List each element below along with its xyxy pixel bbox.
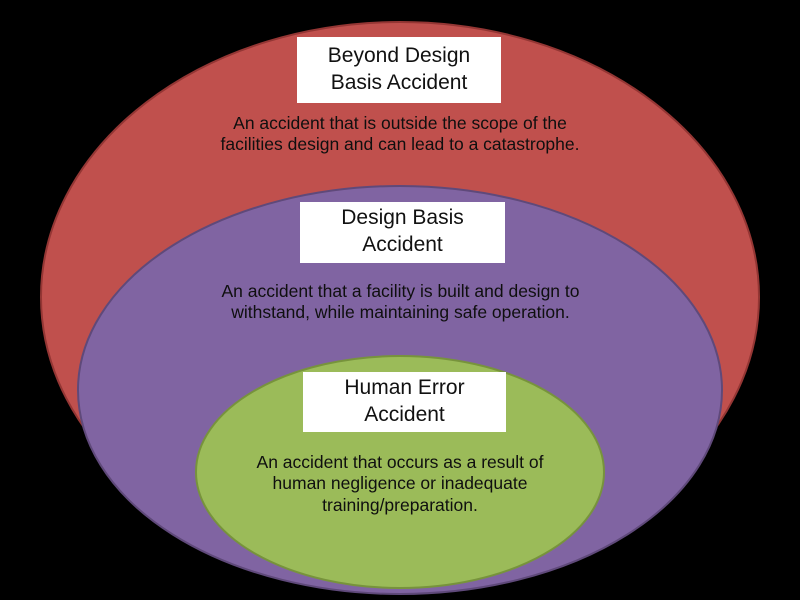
label-title-line-2: Accident (364, 402, 445, 429)
label-box-design-basis-accident: Design Basis Accident (300, 202, 505, 263)
description-beyond-design-basis-accident: An accident that is outside the scope of… (110, 113, 690, 156)
diagram-canvas: Beyond Design Basis Accident An accident… (0, 0, 800, 600)
label-box-beyond-design-basis-accident: Beyond Design Basis Accident (297, 37, 501, 103)
label-title-line-1: Beyond Design (328, 43, 470, 70)
description-line-2: facilities design and can lead to a cata… (110, 134, 690, 155)
description-line-2: human negligence or inadequate (180, 473, 620, 494)
description-line-3: training/preparation. (180, 495, 620, 516)
description-line-1: An accident that a facility is built and… (118, 281, 683, 302)
description-line-1: An accident that occurs as a result of (180, 452, 620, 473)
label-box-human-error-accident: Human Error Accident (303, 372, 506, 432)
description-design-basis-accident: An accident that a facility is built and… (118, 281, 683, 324)
description-human-error-accident: An accident that occurs as a result of h… (180, 452, 620, 516)
label-title-line-2: Basis Accident (331, 70, 468, 97)
description-line-2: withstand, while maintaining safe operat… (118, 302, 683, 323)
description-line-1: An accident that is outside the scope of… (110, 113, 690, 134)
label-title-line-2: Accident (362, 232, 443, 259)
label-title-line-1: Design Basis (341, 205, 464, 232)
label-title-line-1: Human Error (344, 375, 464, 402)
